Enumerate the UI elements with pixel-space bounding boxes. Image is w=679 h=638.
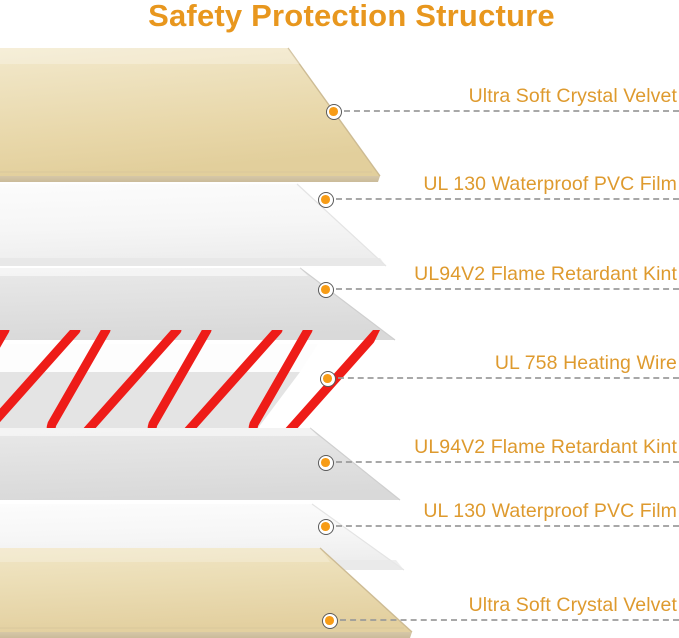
callout-label-knit-bottom: UL94V2 Flame Retardant Kint — [414, 436, 677, 459]
slab-velvet-top — [0, 48, 380, 182]
callout-label-pvc-top: UL 130 Waterproof PVC Film — [423, 173, 677, 196]
callout-dot-knit-bottom[interactable] — [318, 455, 334, 471]
callout-line-pvc-top — [336, 198, 679, 200]
page-title: Safety Protection Structure — [0, 0, 679, 34]
slab-knit-bottom — [0, 428, 400, 500]
callout-label-knit-top: UL94V2 Flame Retardant Kint — [414, 263, 677, 286]
callout-line-velvet-bottom — [340, 619, 679, 621]
callout-dot-heating-wire[interactable] — [320, 371, 336, 387]
callout-line-knit-top — [336, 288, 679, 290]
callout-label-heating-wire: UL 758 Heating Wire — [495, 352, 677, 375]
callout-label-pvc-bottom: UL 130 Waterproof PVC Film — [423, 500, 677, 523]
callout-line-velvet-top — [344, 110, 679, 112]
callout-dot-pvc-bottom[interactable] — [318, 519, 334, 535]
callout-dot-knit-top[interactable] — [318, 282, 334, 298]
callout-line-pvc-bottom — [336, 525, 679, 527]
callout-line-heating-wire — [338, 377, 679, 379]
callout-label-velvet-top: Ultra Soft Crystal Velvet — [469, 85, 677, 108]
slab-knit-top — [0, 268, 395, 340]
callout-dot-velvet-bottom[interactable] — [322, 613, 338, 629]
callout-line-knit-bottom — [336, 461, 679, 463]
callout-dot-velvet-top[interactable] — [326, 104, 342, 120]
safety-protection-structure-infographic: Safety Protection Structure Ultra Soft C… — [0, 0, 679, 638]
callout-dot-pvc-top[interactable] — [318, 192, 334, 208]
callout-label-velvet-bottom: Ultra Soft Crystal Velvet — [469, 594, 677, 617]
